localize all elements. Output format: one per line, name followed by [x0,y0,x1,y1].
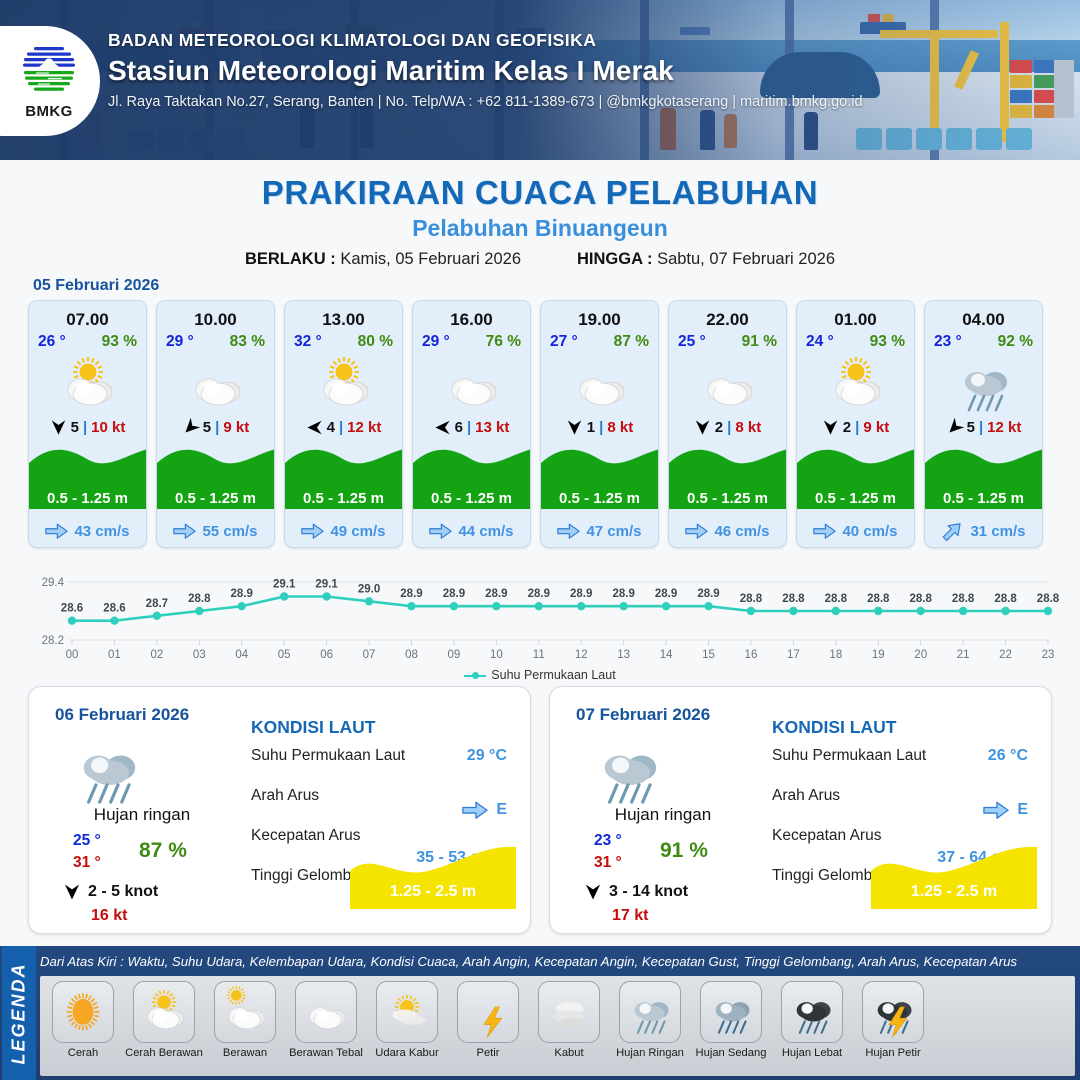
hourly-card: 22.00 25 ° 91 % 2 | 8 kt 0.5 - 1.25 m [668,300,787,548]
weather-icon-light-rain [69,731,145,814]
weather-icon-cloudy [413,353,530,415]
card-time: 07.00 [29,310,146,330]
card-humidity: 80 % [358,333,393,351]
wind-direction-arrow [822,419,839,436]
card-gust: 8 kt [735,419,761,436]
weather-icon-partly-cloudy [797,353,914,415]
legend-item-label: Hujan Ringan [611,1047,689,1059]
current-direction-arrow [429,523,452,539]
svg-text:09: 09 [448,649,461,661]
wind-separator: | [339,419,343,436]
hourly-card: 01.00 24 ° 93 % 2 | 9 kt 0.5 - 1.25 m [796,300,915,548]
svg-text:10: 10 [490,649,503,661]
weather-icon-partly-cloudy [133,981,195,1043]
svg-text:01: 01 [108,649,121,661]
sst-chart-svg: 29.428.200010203040506070809101112131415… [20,556,1060,668]
wind-direction-arrow [584,883,602,901]
agency-name: BADAN METEOROLOGI KLIMATOLOGI DAN GEOFIS… [108,30,863,51]
svg-text:28.9: 28.9 [485,588,507,600]
card-wind-speed: 2 [843,419,851,436]
card-current-speed: 44 cm/s [458,523,513,540]
card-gust: 9 kt [863,419,889,436]
legend-item-label: Kabut [530,1047,608,1059]
panel-wave-height: 1.25 - 2.5 m [871,883,1037,901]
valid-from: BERLAKU : Kamis, 05 Februari 2026 [245,250,521,269]
svg-text:19: 19 [872,649,885,661]
svg-text:16: 16 [745,649,758,661]
bmkg-logo-icon [18,42,80,102]
weather-icon-cloudy [157,353,274,415]
chart-legend-swatch [464,675,486,677]
svg-text:04: 04 [235,649,248,661]
current-direction-arrow [685,523,708,539]
row-label: Suhu Permukaan Laut [772,747,926,765]
card-current: 31 cm/s [925,523,1042,540]
svg-text:28.9: 28.9 [528,588,550,600]
row-value: E [983,801,1028,820]
wind-separator: | [855,419,859,436]
svg-text:28.9: 28.9 [231,588,253,600]
card-wind-speed: 2 [715,419,723,436]
page-title: PRAKIRAAN CUACA PELABUHAN [0,174,1080,212]
card-time: 04.00 [925,310,1042,330]
card-temperature: 27 ° [550,333,578,351]
panel-date: 07 Februari 2026 [576,705,710,725]
svg-text:13: 13 [617,649,630,661]
svg-text:00: 00 [66,649,79,661]
card-wave-height: 0.5 - 1.25 m [413,490,530,507]
card-humidity: 93 % [102,333,137,351]
svg-text:28.9: 28.9 [697,588,719,600]
card-wind-speed: 5 [203,419,211,436]
panel-temps: 23 ° 31 ° [594,830,622,875]
card-wave-height: 0.5 - 1.25 m [541,490,658,507]
card-temperature: 29 ° [166,333,194,351]
svg-text:28.9: 28.9 [400,588,422,600]
wind-separator: | [979,419,983,436]
panel-temps: 25 ° 31 ° [73,830,101,875]
svg-text:28.8: 28.8 [188,593,211,605]
wind-direction-arrow [63,883,81,901]
legend-side-title: LEGENDA [2,946,36,1080]
daily-forecast-panel: 07 Februari 2026 Hujan ringan 23 ° 31 ° … [549,686,1052,934]
card-time: 16.00 [413,310,530,330]
card-temperature: 29 ° [422,333,450,351]
svg-text:11: 11 [533,649,545,661]
legend-icon-list: Cerah Cerah Berawan Berawan Berawan Teba [40,976,1075,1076]
valid-until-label: HINGGA : [577,250,652,268]
current-direction-arrow [173,523,196,539]
panel-condition: Hujan ringan [47,805,237,825]
card-wind: 5 | 9 kt [157,419,274,436]
sst-chart: 29.428.200010203040506070809101112131415… [20,556,1060,684]
legend-note: Dari Atas Kiri : Waktu, Suhu Udara, Kele… [40,954,1076,969]
current-direction-arrow [45,523,68,539]
panel-wind-speed: 2 - 5 knot [88,883,158,901]
card-wave-height: 0.5 - 1.25 m [157,490,274,507]
svg-text:03: 03 [193,649,206,661]
card-time: 01.00 [797,310,914,330]
panel-wind: 2 - 5 knot [63,883,158,901]
panel-temp-max: 31 ° [594,852,622,874]
svg-text:29.1: 29.1 [273,579,296,591]
current-direction-arrow [557,523,580,539]
legend-bar: LEGENDA Dari Atas Kiri : Waktu, Suhu Uda… [0,946,1080,1080]
contact-info: Jl. Raya Taktakan No.27, Serang, Banten … [108,94,863,110]
svg-text:28.9: 28.9 [612,588,634,600]
current-direction-arrow [462,801,488,820]
card-current: 40 cm/s [797,523,914,540]
wind-separator: | [467,419,471,436]
card-current: 55 cm/s [157,523,274,540]
legend-item: Hujan Petir [854,981,932,1059]
legend-side-title-text: LEGENDA [9,962,30,1064]
legend-item: Berawan [206,981,284,1059]
panel-wave-graphic: 1.25 - 2.5 m [350,845,516,909]
card-current: 46 cm/s [669,523,786,540]
card-wave-height: 0.5 - 1.25 m [29,490,146,507]
bmkg-logo-text: BMKG [12,103,86,120]
card-gust: 10 kt [91,419,125,436]
row-label: Suhu Permukaan Laut [251,747,405,765]
card-humidity: 92 % [998,333,1033,351]
card-current-speed: 46 cm/s [714,523,769,540]
card-temperature: 26 ° [38,333,66,351]
legend-item-label: Hujan Lebat [773,1047,851,1059]
weather-icon-fog [538,981,600,1043]
svg-text:28.6: 28.6 [61,603,83,615]
panel-gust: 17 kt [612,907,648,925]
panel-wind: 3 - 14 knot [584,883,688,901]
current-direction-arrow [983,801,1009,820]
card-wind: 2 | 9 kt [797,419,914,436]
legend-item-label: Berawan [206,1047,284,1059]
weather-icon-light-rain [925,353,1042,415]
panel-row: Arah Arus E [772,783,1034,823]
hourly-card: 19.00 27 ° 87 % 1 | 8 kt 0.5 - 1.25 m [540,300,659,548]
panel-temp-min: 23 ° [594,830,622,852]
card-time: 13.00 [285,310,402,330]
panel-date: 06 Februari 2026 [55,705,189,725]
panel-wave-graphic: 1.25 - 2.5 m [871,845,1037,909]
svg-text:28.9: 28.9 [570,588,592,600]
svg-text:14: 14 [660,649,673,661]
panel-gust: 16 kt [91,907,127,925]
station-name: Stasiun Meteorologi Maritim Kelas I Mera… [108,55,863,87]
current-direction-arrow [939,518,967,546]
legend-item-label: Cerah Berawan [125,1047,203,1059]
valid-until: HINGGA : Sabtu, 07 Februari 2026 [577,250,835,269]
svg-text:15: 15 [702,649,715,661]
panel-row: Suhu Permukaan Laut 26 °C [772,743,1034,783]
card-gust: 12 kt [987,419,1021,436]
card-wind-speed: 6 [455,419,463,436]
title-block: PRAKIRAAN CUACA PELABUHAN Pelabuhan Binu… [0,174,1080,269]
card-current: 43 cm/s [29,523,146,540]
current-direction-arrow [813,523,836,539]
hourly-card: 07.00 26 ° 93 % 5 | 10 kt 0.5 - 1.25 m [28,300,147,548]
svg-text:29.4: 29.4 [42,577,65,589]
card-wind-speed: 4 [327,419,335,436]
current-direction-arrow [301,523,324,539]
wind-separator: | [727,419,731,436]
row-value: 26 °C [988,747,1028,765]
row-label: Arah Arus [772,787,840,805]
daily-forecast-panels: 06 Februari 2026 Hujan ringan 25 ° 31 ° … [28,686,1052,934]
panel-humidity: 91 % [660,839,708,863]
svg-text:20: 20 [914,649,927,661]
card-current: 47 cm/s [541,523,658,540]
card-wind: 2 | 8 kt [669,419,786,436]
legend-item: Cerah Berawan [125,981,203,1059]
card-wave-height: 0.5 - 1.25 m [797,490,914,507]
weather-icon-cloudy [541,353,658,415]
weather-icon-light-rain [619,981,681,1043]
valid-from-label: BERLAKU : [245,250,336,268]
card-gust: 13 kt [475,419,509,436]
daily-forecast-panel: 06 Februari 2026 Hujan ringan 25 ° 31 ° … [28,686,531,934]
card-humidity: 87 % [614,333,649,351]
card-temperature: 25 ° [678,333,706,351]
panel-humidity: 87 % [139,839,187,863]
svg-text:22: 22 [999,649,1012,661]
svg-text:28.9: 28.9 [443,588,465,600]
card-temperature: 32 ° [294,333,322,351]
svg-text:28.8: 28.8 [782,593,805,605]
wind-direction-arrow [434,419,451,436]
page-header: BMKG BADAN METEOROLOGI KLIMATOLOGI DAN G… [0,0,1080,160]
card-time: 22.00 [669,310,786,330]
page-subtitle: Pelabuhan Binuangeun [0,215,1080,242]
legend-item-label: Berawan Tebal [287,1047,365,1059]
weather-icon-partly-cloudy [29,353,146,415]
card-wave-height: 0.5 - 1.25 m [669,490,786,507]
legend-item: Petir [449,981,527,1059]
card-gust: 12 kt [347,419,381,436]
hourly-date-label: 05 Februari 2026 [33,277,159,295]
panel-section-title: KONDISI LAUT [772,717,896,738]
card-current-speed: 43 cm/s [74,523,129,540]
card-temperature: 23 ° [934,333,962,351]
legend-item: Cerah [44,981,122,1059]
legend-item: Hujan Ringan [611,981,689,1059]
row-label: Kecepatan Arus [772,827,881,845]
valid-until-value: Sabtu, 07 Februari 2026 [657,250,835,268]
card-current-speed: 31 cm/s [970,523,1025,540]
legend-item: Hujan Sedang [692,981,770,1059]
card-wind-speed: 1 [587,419,595,436]
valid-from-value: Kamis, 05 Februari 2026 [340,250,521,268]
card-gust: 9 kt [223,419,249,436]
card-wave-height: 0.5 - 1.25 m [925,490,1042,507]
card-wind-speed: 5 [967,419,975,436]
legend-item: Berawan Tebal [287,981,365,1059]
svg-text:28.6: 28.6 [103,603,125,615]
validity-row: BERLAKU : Kamis, 05 Februari 2026 HINGGA… [0,250,1080,269]
card-humidity: 93 % [870,333,905,351]
card-humidity: 83 % [230,333,265,351]
card-wind: 6 | 13 kt [413,419,530,436]
row-label: Kecepatan Arus [251,827,360,845]
card-time: 10.00 [157,310,274,330]
hourly-card: 04.00 23 ° 92 % 5 | 12 kt 0.5 - 1.25 m [924,300,1043,548]
hourly-card: 16.00 29 ° 76 % 6 | 13 kt 0.5 - 1.25 m [412,300,531,548]
hourly-forecast-strip: 07.00 26 ° 93 % 5 | 10 kt 0.5 - 1.25 m [28,300,1052,548]
card-current-speed: 55 cm/s [202,523,257,540]
row-value: E [462,801,507,820]
legend-item-label: Hujan Petir [854,1047,932,1059]
card-current: 49 cm/s [285,523,402,540]
svg-text:28.8: 28.8 [867,593,890,605]
svg-text:23: 23 [1042,649,1055,661]
svg-text:29.1: 29.1 [315,579,338,591]
svg-text:28.2: 28.2 [42,635,64,647]
bmkg-logo: BMKG [0,26,100,136]
row-label: Arah Arus [251,787,319,805]
card-wave-height: 0.5 - 1.25 m [285,490,402,507]
card-current-speed: 40 cm/s [842,523,897,540]
svg-text:07: 07 [363,649,376,661]
panel-temp-min: 25 ° [73,830,101,852]
panel-wave-height: 1.25 - 2.5 m [350,883,516,901]
wind-direction-arrow [942,415,966,439]
card-time: 19.00 [541,310,658,330]
weather-icon-moderate-rain [700,981,762,1043]
card-humidity: 91 % [742,333,777,351]
weather-icon-cloudy [295,981,357,1043]
svg-text:02: 02 [150,649,163,661]
svg-text:12: 12 [575,649,588,661]
legend-item-label: Hujan Sedang [692,1047,770,1059]
weather-icon-heavy-rain [781,981,843,1043]
wind-separator: | [599,419,603,436]
weather-icon-lightning [457,981,519,1043]
svg-text:28.8: 28.8 [825,593,848,605]
chart-legend: Suhu Permukaan Laut [20,668,1060,682]
card-current-speed: 49 cm/s [330,523,385,540]
svg-text:28.8: 28.8 [910,593,933,605]
weather-icon-thunderstorm [862,981,924,1043]
card-wind: 5 | 12 kt [925,419,1042,436]
card-humidity: 76 % [486,333,521,351]
panel-section-title: KONDISI LAUT [251,717,375,738]
card-current: 44 cm/s [413,523,530,540]
svg-text:29.0: 29.0 [358,583,380,595]
wind-direction-arrow [694,419,711,436]
legend-item-label: Udara Kabur [368,1047,446,1059]
svg-text:28.8: 28.8 [994,593,1017,605]
hourly-card: 10.00 29 ° 83 % 5 | 9 kt 0.5 - 1.25 m [156,300,275,548]
card-wind: 4 | 12 kt [285,419,402,436]
legend-item: Hujan Lebat [773,981,851,1059]
svg-text:28.8: 28.8 [1037,593,1060,605]
card-wind: 1 | 8 kt [541,419,658,436]
card-wind: 5 | 10 kt [29,419,146,436]
panel-condition: Hujan ringan [568,805,758,825]
svg-text:21: 21 [957,649,970,661]
card-temperature: 24 ° [806,333,834,351]
weather-icon-haze [376,981,438,1043]
panel-wind-speed: 3 - 14 knot [609,883,688,901]
svg-text:28.8: 28.8 [740,593,763,605]
wind-direction-arrow [178,415,202,439]
legend-item-label: Cerah [44,1047,122,1059]
chart-legend-label: Suhu Permukaan Laut [491,668,615,682]
wind-direction-arrow [306,419,323,436]
card-wind-speed: 5 [71,419,79,436]
svg-text:18: 18 [829,649,842,661]
panel-row: Suhu Permukaan Laut 29 °C [251,743,513,783]
svg-text:28.9: 28.9 [655,588,677,600]
wind-separator: | [215,419,219,436]
weather-icon-partly-cloudy [285,353,402,415]
legend-item-label: Petir [449,1047,527,1059]
weather-icon-light-rain [590,731,666,814]
card-gust: 8 kt [607,419,633,436]
svg-text:05: 05 [278,649,291,661]
wind-separator: | [83,419,87,436]
svg-text:08: 08 [405,649,418,661]
svg-text:17: 17 [787,649,800,661]
panel-temp-max: 31 ° [73,852,101,874]
row-value: 29 °C [467,747,507,765]
svg-text:06: 06 [320,649,333,661]
wind-direction-arrow [566,419,583,436]
current-direction-label: E [1017,801,1028,819]
card-current-speed: 47 cm/s [586,523,641,540]
wind-direction-arrow [50,419,67,436]
current-direction-label: E [496,801,507,819]
weather-icon-sunny [52,981,114,1043]
hourly-card: 13.00 32 ° 80 % 4 | 12 kt 0.5 - 1.25 m [284,300,403,548]
panel-row: Arah Arus E [251,783,513,823]
weather-icon-cloudy [669,353,786,415]
weather-icon-mostly-cloudy [214,981,276,1043]
legend-item: Udara Kabur [368,981,446,1059]
svg-text:28.8: 28.8 [952,593,975,605]
legend-item: Kabut [530,981,608,1059]
svg-text:28.7: 28.7 [146,598,168,610]
